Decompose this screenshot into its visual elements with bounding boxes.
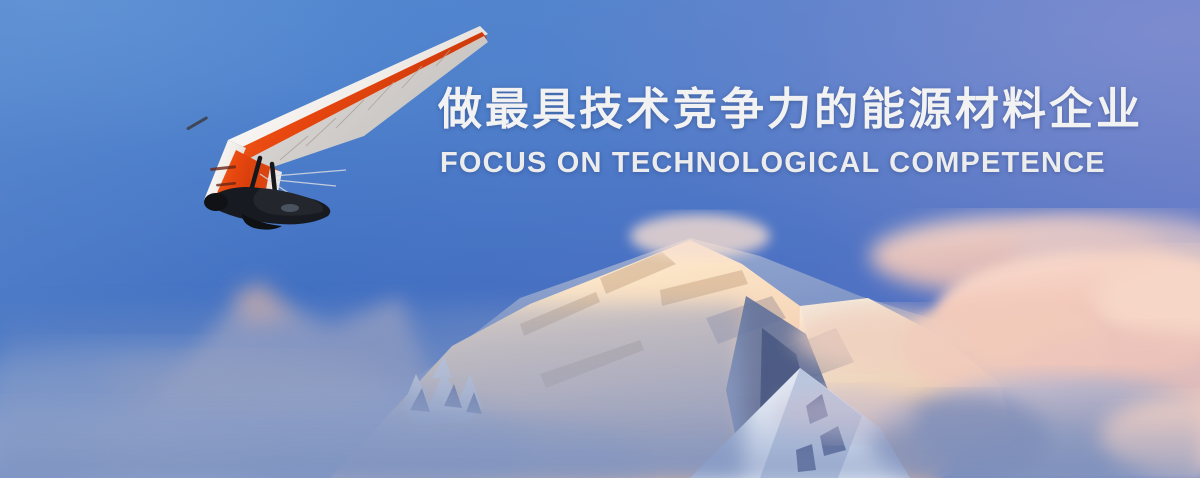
mountain-scene bbox=[0, 178, 1200, 478]
banner-copy: 做最具技术竞争力的能源材料企业 FOCUS ON TECHNOLOGICAL C… bbox=[438, 84, 1194, 180]
banner-headline-english: FOCUS ON TECHNOLOGICAL COMPETENCE bbox=[440, 146, 1194, 180]
pilot-helmet bbox=[204, 193, 228, 211]
company-hero-banner: 做最具技术竞争力的能源材料企业 FOCUS ON TECHNOLOGICAL C… bbox=[0, 0, 1200, 478]
banner-headline-chinese: 做最具技术竞争力的能源材料企业 bbox=[438, 84, 1194, 136]
